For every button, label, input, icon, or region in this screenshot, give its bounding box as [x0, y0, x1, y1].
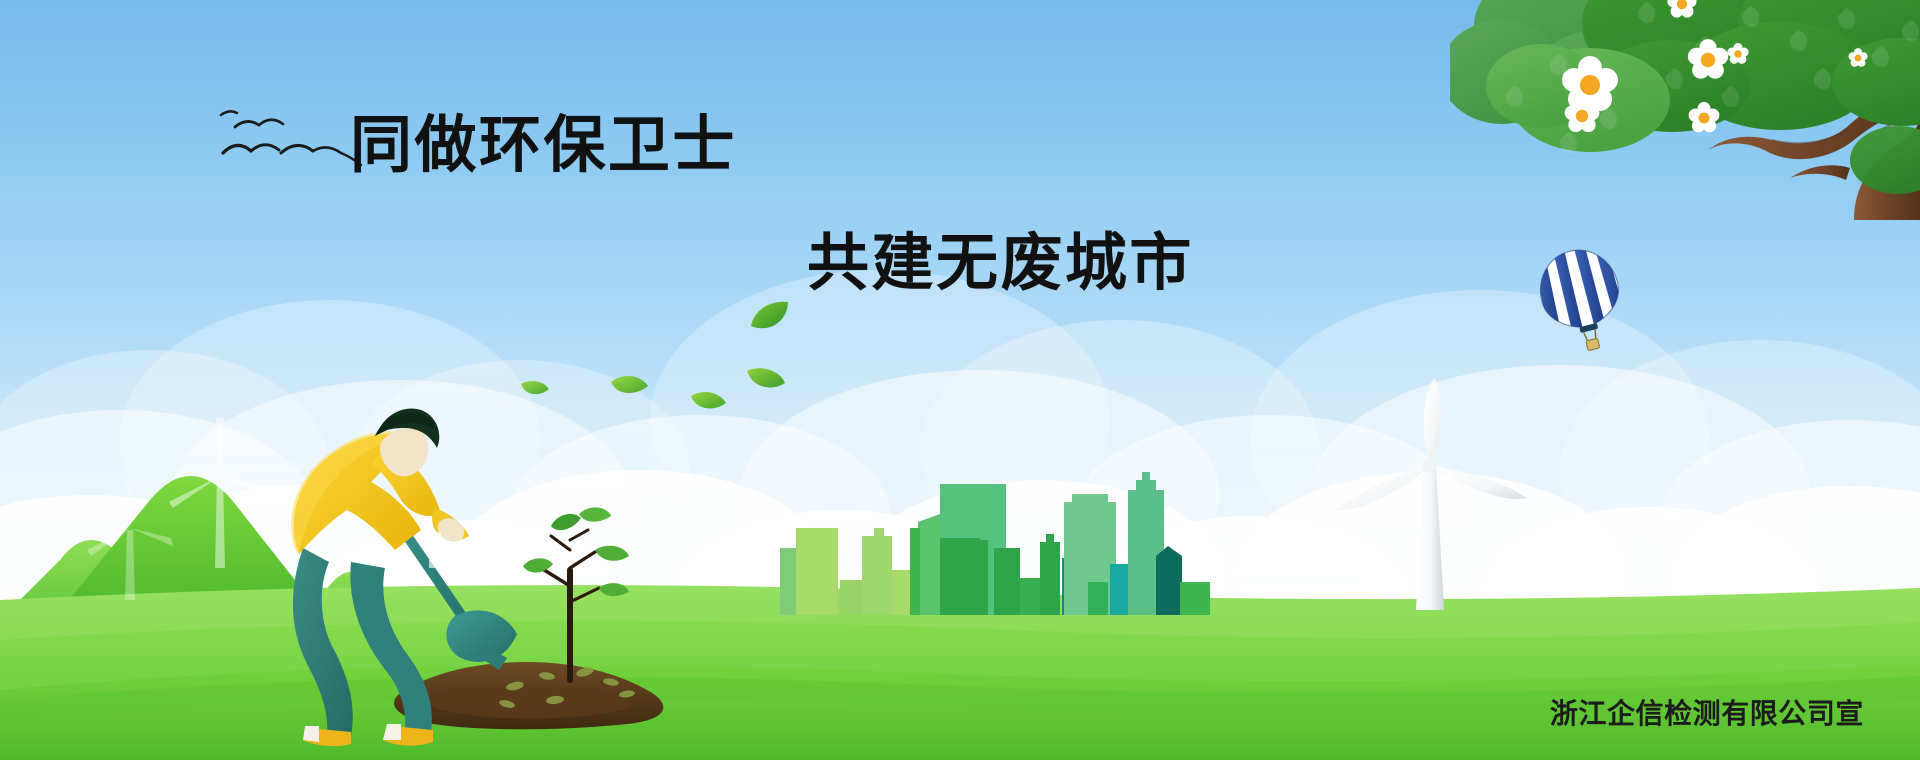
wind-turbine-main	[1330, 378, 1530, 618]
sapling-leaves	[523, 507, 629, 596]
flowering-tree	[1450, 0, 1920, 220]
green-city-skyline	[780, 470, 1210, 615]
headline-primary: 同做环保卫士	[350, 94, 737, 184]
floating-leaf-3	[690, 388, 728, 418]
sapling	[541, 530, 599, 680]
floating-leaf-1	[745, 365, 787, 399]
eco-banner: 同做环保卫士 共建无废城市 浙江企信检测有限公司宣	[0, 0, 1920, 760]
person-planting-sapling	[255, 390, 685, 760]
wind-turbine-small-left-2	[85, 480, 175, 600]
soil-mound	[394, 662, 663, 729]
hot-air-balloon	[1535, 248, 1625, 358]
floating-leaf-4	[748, 300, 792, 336]
company-credit: 浙江企信检测有限公司宣	[1550, 692, 1864, 732]
legs	[293, 548, 432, 736]
headline-secondary: 共建无废城市	[807, 212, 1194, 302]
